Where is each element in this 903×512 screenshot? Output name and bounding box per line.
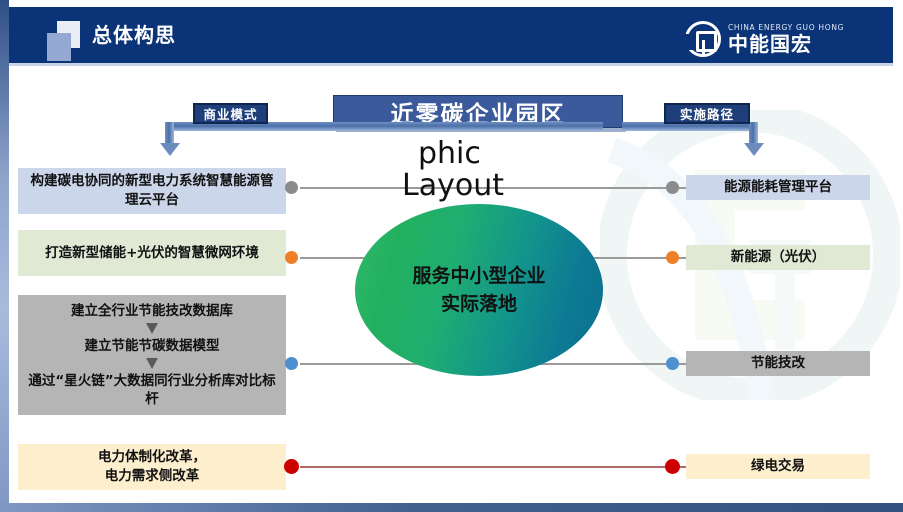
stack-row-3: 通过“星火链”大数据同行业分析库对比标杆 — [24, 372, 280, 408]
overlay-text-phic: phic — [418, 136, 481, 172]
logo-chinese-name: 中能国宏 — [728, 33, 844, 56]
left-card-energy-saving-database-stack: 建立全行业节能技改数据库 建立节能节碳数据模型 通过“星火链”大数据同行业分析库… — [18, 295, 286, 415]
connector-dot-right-orange — [666, 251, 679, 264]
slide-canvas: 总体构思 CHINA ENERGY GUO HONG 中能国宏 近零碳企业园区 … — [0, 0, 903, 512]
header-bar: 总体构思 CHINA ENERGY GUO HONG 中能国宏 — [9, 7, 893, 63]
slide-border-right — [893, 0, 903, 512]
left-card-storage-pv-microgrid[interactable]: 打造新型储能+光伏的智慧微网环境 — [18, 230, 286, 276]
connector-dot-right-gray — [666, 181, 679, 194]
tab-business-model[interactable]: 商业模式 — [193, 103, 268, 124]
right-card-green-power-trading[interactable]: 绿电交易 — [686, 454, 870, 479]
connector-dot-left-gray — [285, 181, 298, 194]
slide-border-bottom — [0, 503, 903, 512]
header-underline — [9, 63, 893, 66]
right-card-energy-saving-retrofit[interactable]: 节能技改 — [686, 351, 870, 376]
logo-mark-icon — [685, 21, 721, 57]
logo-english-name: CHINA ENERGY GUO HONG — [728, 23, 844, 33]
left-card-4-line1: 电力体制化改革， — [98, 448, 206, 467]
connector-dot-left-red — [284, 459, 299, 474]
company-logo: CHINA ENERGY GUO HONG 中能国宏 — [685, 19, 873, 59]
connector-dot-left-blue — [285, 357, 298, 370]
stack-row-2: 建立节能节碳数据模型 — [85, 337, 220, 355]
stack-row-1: 建立全行业节能技改数据库 — [71, 302, 233, 320]
connector-dot-left-orange — [285, 251, 298, 264]
down-arrow-icon-1 — [146, 323, 158, 334]
header-accent-square-blue — [47, 33, 71, 61]
right-card-new-energy-pv[interactable]: 新能源（光伏） — [686, 245, 870, 270]
left-card-4-line2: 电力需求侧改革 — [105, 467, 200, 486]
left-card-power-system-reform[interactable]: 电力体制化改革， 电力需求侧改革 — [18, 444, 286, 490]
down-arrow-icon-2 — [146, 358, 158, 369]
overlay-text-layout: Layout — [402, 168, 504, 204]
tab-implementation-path[interactable]: 实施路径 — [664, 103, 750, 124]
slide-border-left — [0, 0, 9, 512]
center-ellipse-line1: 服务中小型企业 — [412, 262, 545, 290]
connector-dot-right-blue — [666, 357, 679, 370]
page-title: 总体构思 — [92, 21, 176, 49]
right-card-energy-consumption-platform[interactable]: 能源能耗管理平台 — [686, 175, 870, 200]
center-ellipse: 服务中小型企业 实际落地 — [355, 204, 603, 376]
center-ellipse-line2: 实际落地 — [412, 290, 545, 318]
left-card-energy-cloud-platform[interactable]: 构建碳电协同的新型电力系统智慧能源管理云平台 — [18, 168, 286, 214]
connector-dot-right-red — [665, 459, 680, 474]
